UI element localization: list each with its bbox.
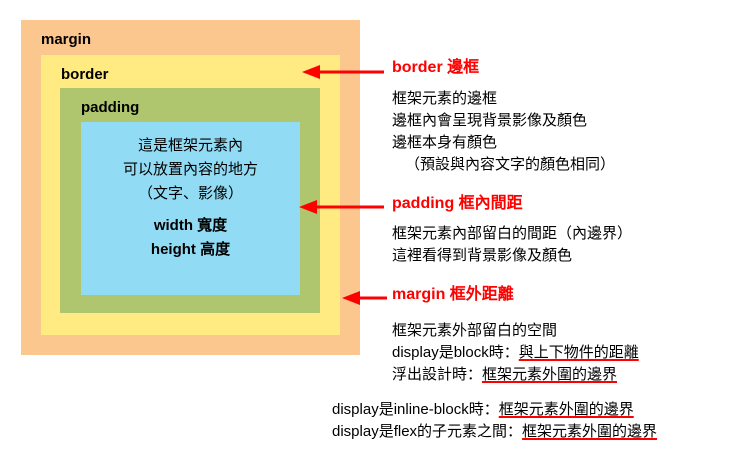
border-layer: border padding 這是框架元素內 可以放置內容的地方 （文字、影像）… [41,55,340,335]
content-width-line: width 寬度 [154,214,227,238]
content-height-line: height 高度 [151,238,230,262]
annotation-body-margin: 框架元素外部留白的空間 display是block時：與上下物件的距離 浮出設計… [392,320,639,386]
annotation-heading-margin: margin 框外距離 [392,287,514,303]
annotation-line-emphasis: 框架元素外圍的邊界 [482,366,617,383]
annotation-line: 邊框本身有顏色 [392,132,615,154]
padding-label: padding [81,100,320,115]
annotation-line-emphasis: 框架元素外圍的邊界 [499,401,634,418]
annotation-line: display是flex的子元素之間：框架元素外圍的邊界 [332,421,657,443]
margin-label: margin [41,32,360,47]
annotation-body-padding: 框架元素內部留白的間距（內邊界） 這裡看得到背景影像及顏色 [392,223,632,267]
annotation-heading-padding: padding 框內間距 [392,196,523,212]
content-text-line: 這是框架元素內 [138,134,243,158]
annotation-body-margin-extra: display是inline-block時：框架元素外圍的邊界 display是… [332,399,657,443]
margin-arrow-icon [340,291,388,305]
annotation-line-prefix: 框架元素外部留白的空間 [392,322,557,339]
annotation-line: 邊框內會呈現背景影像及顏色 [392,110,615,132]
content-layer: 這是框架元素內 可以放置內容的地方 （文字、影像） width 寬度 heigh… [81,122,300,295]
annotation-body-border: 框架元素的邊框 邊框內會呈現背景影像及顏色 邊框本身有顏色 （預設與內容文字的顏… [392,88,615,176]
annotation-heading-border: border 邊框 [392,60,479,76]
annotation-line: display是block時：與上下物件的距離 [392,342,639,364]
annotation-line: 框架元素外部留白的空間 [392,320,639,342]
annotation-line-prefix: display是inline-block時： [332,401,499,418]
annotation-line-emphasis: 與上下物件的距離 [519,344,639,361]
annotation-line: 框架元素內部留白的間距（內邊界） [392,223,632,245]
border-arrow-icon [300,65,385,79]
annotation-line: 浮出設計時：框架元素外圍的邊界 [392,364,639,386]
annotation-line: display是inline-block時：框架元素外圍的邊界 [332,399,657,421]
annotation-line: （預設與內容文字的顏色相同） [392,154,615,176]
padding-layer: padding 這是框架元素內 可以放置內容的地方 （文字、影像） width … [60,88,320,313]
padding-arrow-icon [297,200,385,214]
annotation-line-indented: （預設與內容文字的顏色相同） [392,154,615,176]
annotation-line-prefix: display是flex的子元素之間： [332,423,522,440]
content-text-line: （文字、影像） [138,182,243,206]
annotation-line: 框架元素的邊框 [392,88,615,110]
content-text-line: 可以放置內容的地方 [123,158,258,182]
annotation-line-emphasis: 框架元素外圍的邊界 [522,423,657,440]
annotation-line: 這裡看得到背景影像及顏色 [392,245,632,267]
annotation-line-prefix: 浮出設計時： [392,366,482,383]
border-label: border [61,67,340,82]
annotation-line-prefix: display是block時： [392,344,519,361]
